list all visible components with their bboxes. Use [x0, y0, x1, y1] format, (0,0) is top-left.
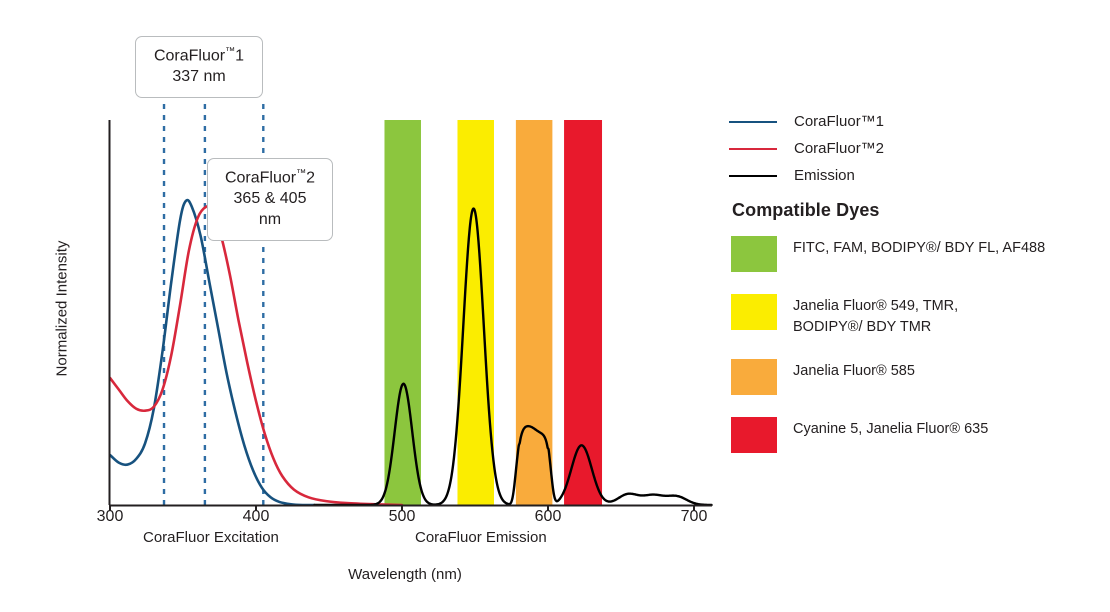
y-axis-title: Normalized Intensity — [54, 219, 71, 399]
dye-label-red-line1: Cyanine 5, Janelia Fluor® 635 — [793, 421, 988, 437]
callout-cf2-line2: 365 & 405 nm — [222, 189, 318, 231]
x-axis-title: Wavelength (nm) — [275, 566, 535, 583]
caption-emission: CoraFluor Emission — [415, 529, 547, 546]
dye-row-yellow: Janelia Fluor® 549, TMR, BODIPY®/ BDY TM… — [731, 294, 1110, 337]
legend-line-swatch-emission — [729, 175, 777, 177]
dye-band — [384, 120, 421, 505]
dye-label-yellow-line1: Janelia Fluor® 549, TMR, — [793, 298, 958, 314]
dye-label-yellow-line2: BODIPY®/ BDY TMR — [793, 317, 958, 338]
emission-curve — [314, 209, 711, 505]
spectra-chart: 300 400 500 600 700 CoraFluor Excitation… — [0, 0, 730, 612]
x-tick-600: 600 — [518, 508, 578, 526]
dye-swatch-orange — [731, 359, 777, 395]
dye-label-red: Cyanine 5, Janelia Fluor® 635 — [793, 417, 988, 440]
legend-label-corafluor-1: CoraFluor™1 — [794, 113, 884, 130]
dye-swatch-yellow — [731, 294, 777, 330]
x-tick-700: 700 — [664, 508, 724, 526]
excitation-curve — [110, 206, 402, 505]
x-tick-500: 500 — [372, 508, 432, 526]
series-legend: CoraFluor™1 CoraFluor™2 Emission — [729, 108, 1110, 189]
dye-label-orange-line1: Janelia Fluor® 585 — [793, 363, 915, 379]
callout-cf1-line1: CoraFluor™1 — [150, 45, 248, 67]
legend-item-corafluor-1: CoraFluor™1 — [729, 108, 1110, 135]
legend-line-swatch-corafluor-1 — [729, 121, 777, 123]
callout-cf1-line2: 337 nm — [150, 67, 248, 88]
x-tick-400: 400 — [226, 508, 286, 526]
dye-label-green-line1: FITC, FAM, BODIPY®/ BDY FL, AF488 — [793, 240, 1045, 256]
dye-swatch-green — [731, 236, 777, 272]
legend-label-emission: Emission — [794, 167, 855, 184]
x-tick-300: 300 — [80, 508, 140, 526]
excitation-curve — [110, 200, 314, 505]
figure-root: 300 400 500 600 700 CoraFluor Excitation… — [0, 0, 1110, 612]
legend-item-emission: Emission — [729, 162, 1110, 189]
dye-row-red: Cyanine 5, Janelia Fluor® 635 — [731, 417, 1110, 453]
caption-excitation: CoraFluor Excitation — [143, 529, 279, 546]
compatible-dyes-heading: Compatible Dyes — [732, 200, 880, 221]
dye-bands — [384, 120, 602, 505]
callout-cf2-line1: CoraFluor™2 — [222, 167, 318, 189]
dye-row-orange: Janelia Fluor® 585 — [731, 359, 1110, 395]
dye-label-orange: Janelia Fluor® 585 — [793, 359, 915, 382]
dye-swatch-red — [731, 417, 777, 453]
dye-label-yellow: Janelia Fluor® 549, TMR, BODIPY®/ BDY TM… — [793, 294, 958, 337]
legend-line-swatch-corafluor-2 — [729, 148, 777, 150]
dye-row-green: FITC, FAM, BODIPY®/ BDY FL, AF488 — [731, 236, 1110, 272]
legend-item-corafluor-2: CoraFluor™2 — [729, 135, 1110, 162]
compatible-dyes-list: FITC, FAM, BODIPY®/ BDY FL, AF488 Janeli… — [731, 236, 1110, 475]
legend-label-corafluor-2: CoraFluor™2 — [794, 140, 884, 157]
dye-label-green: FITC, FAM, BODIPY®/ BDY FL, AF488 — [793, 236, 1045, 259]
callout-corafluor-1: CoraFluor™1 337 nm — [135, 36, 263, 98]
callout-corafluor-2: CoraFluor™2 365 & 405 nm — [207, 158, 333, 241]
